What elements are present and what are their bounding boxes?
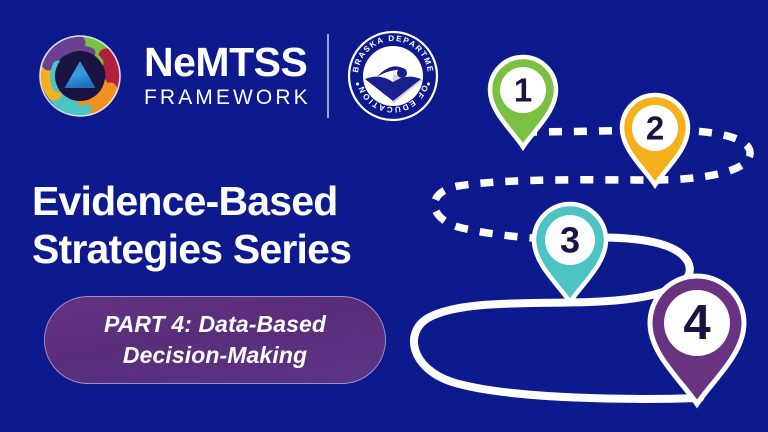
journey-graphic: 3 1 2 4 bbox=[400, 0, 768, 432]
part-badge-line-1: PART 4: Data-Based bbox=[104, 309, 326, 340]
nemtss-wordmark: NeMTSS FRAMEWORK bbox=[144, 43, 311, 108]
part-badge-line-2: Decision-Making bbox=[104, 340, 326, 371]
journey-pin-1: 1 bbox=[490, 57, 556, 147]
journey-pin-3-label: 3 bbox=[560, 220, 580, 261]
headline-line-1: Evidence-Based bbox=[32, 178, 351, 226]
journey-pin-4: 4 bbox=[650, 276, 744, 404]
journey-pin-1-label: 1 bbox=[514, 72, 532, 109]
part-badge: PART 4: Data-Based Decision-Making bbox=[44, 296, 386, 384]
slide-canvas: NeMTSS FRAMEWORK bbox=[0, 0, 768, 432]
journey-pin-2-label: 2 bbox=[646, 110, 664, 147]
journey-pin-4-label: 4 bbox=[683, 296, 710, 350]
wordmark-sub: FRAMEWORK bbox=[144, 86, 311, 109]
page-title: Evidence-Based Strategies Series bbox=[32, 178, 351, 273]
wordmark-main: NeMTSS bbox=[144, 43, 311, 82]
part-badge-text: PART 4: Data-Based Decision-Making bbox=[104, 309, 326, 370]
nemtss-swirl-logo-icon bbox=[30, 26, 130, 126]
headline-line-2: Strategies Series bbox=[32, 226, 351, 274]
journey-pin-3: 3 bbox=[534, 204, 606, 302]
lockup-divider bbox=[327, 34, 329, 118]
logo-lockup: NeMTSS FRAMEWORK bbox=[30, 24, 441, 128]
journey-pin-2: 2 bbox=[622, 95, 688, 185]
